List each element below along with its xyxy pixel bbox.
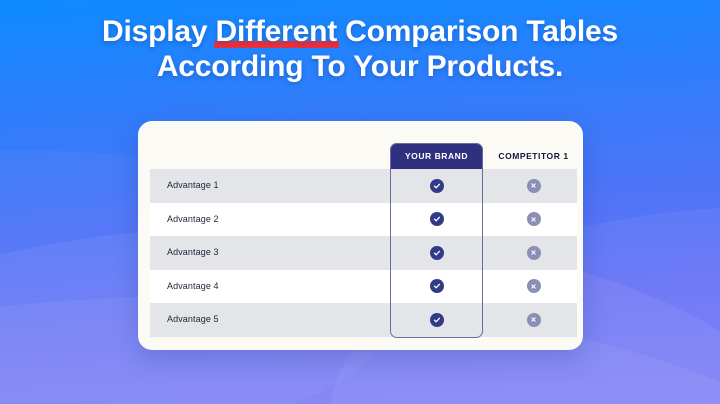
column-header-your-brand[interactable]: YOUR BRAND xyxy=(390,143,483,169)
headline-text-before: Display xyxy=(102,15,215,48)
cross-icon xyxy=(527,212,541,226)
table-row: Advantage 1 xyxy=(150,169,577,203)
headline-line-2: According To Your Products. xyxy=(0,49,720,84)
cell-competitor-1 xyxy=(487,169,580,203)
check-icon xyxy=(430,212,444,226)
comparison-table-card: Advantage 1Advantage 2Advantage 3Advanta… xyxy=(138,121,583,350)
cell-competitor-1 xyxy=(487,270,580,304)
check-icon xyxy=(430,313,444,327)
table-row: Advantage 3 xyxy=(150,236,577,270)
check-icon xyxy=(430,279,444,293)
your-brand-column-highlight xyxy=(390,143,483,338)
check-icon xyxy=(430,246,444,260)
cell-your-brand xyxy=(390,236,483,270)
row-label: Advantage 1 xyxy=(167,169,219,203)
row-label: Advantage 4 xyxy=(167,270,219,304)
cell-competitor-1 xyxy=(487,303,580,337)
table-row: Advantage 4 xyxy=(150,270,577,304)
table-row: Advantage 5 xyxy=(150,303,577,337)
headline: Display Different Comparison Tables Acco… xyxy=(0,14,720,84)
table-header-row: YOUR BRAND COMPETITOR 1 xyxy=(150,143,577,169)
headline-highlighted-word: Different xyxy=(216,14,338,49)
cell-your-brand xyxy=(390,270,483,304)
headline-line-1: Display Different Comparison Tables xyxy=(0,14,720,49)
comparison-table: Advantage 1Advantage 2Advantage 3Advanta… xyxy=(150,121,577,350)
card-corner-clip: Advantage 1Advantage 2Advantage 3Advanta… xyxy=(138,121,583,350)
row-label: Advantage 5 xyxy=(167,303,219,337)
table-body: Advantage 1Advantage 2Advantage 3Advanta… xyxy=(150,169,577,337)
cell-your-brand xyxy=(390,169,483,203)
headline-text-after: Comparison Tables xyxy=(337,15,618,48)
row-label: Advantage 3 xyxy=(167,236,219,270)
row-label: Advantage 2 xyxy=(167,203,219,237)
cross-icon xyxy=(527,313,541,327)
check-icon xyxy=(430,179,444,193)
cross-icon xyxy=(527,279,541,293)
column-header-competitor-1[interactable]: COMPETITOR 1 xyxy=(487,143,580,169)
cross-icon xyxy=(527,246,541,260)
promo-banner: Display Different Comparison Tables Acco… xyxy=(0,0,720,404)
cell-competitor-1 xyxy=(487,236,580,270)
table-row: Advantage 2 xyxy=(150,203,577,237)
cell-competitor-1 xyxy=(487,203,580,237)
cross-icon xyxy=(527,179,541,193)
cell-your-brand xyxy=(390,203,483,237)
cell-your-brand xyxy=(390,303,483,337)
